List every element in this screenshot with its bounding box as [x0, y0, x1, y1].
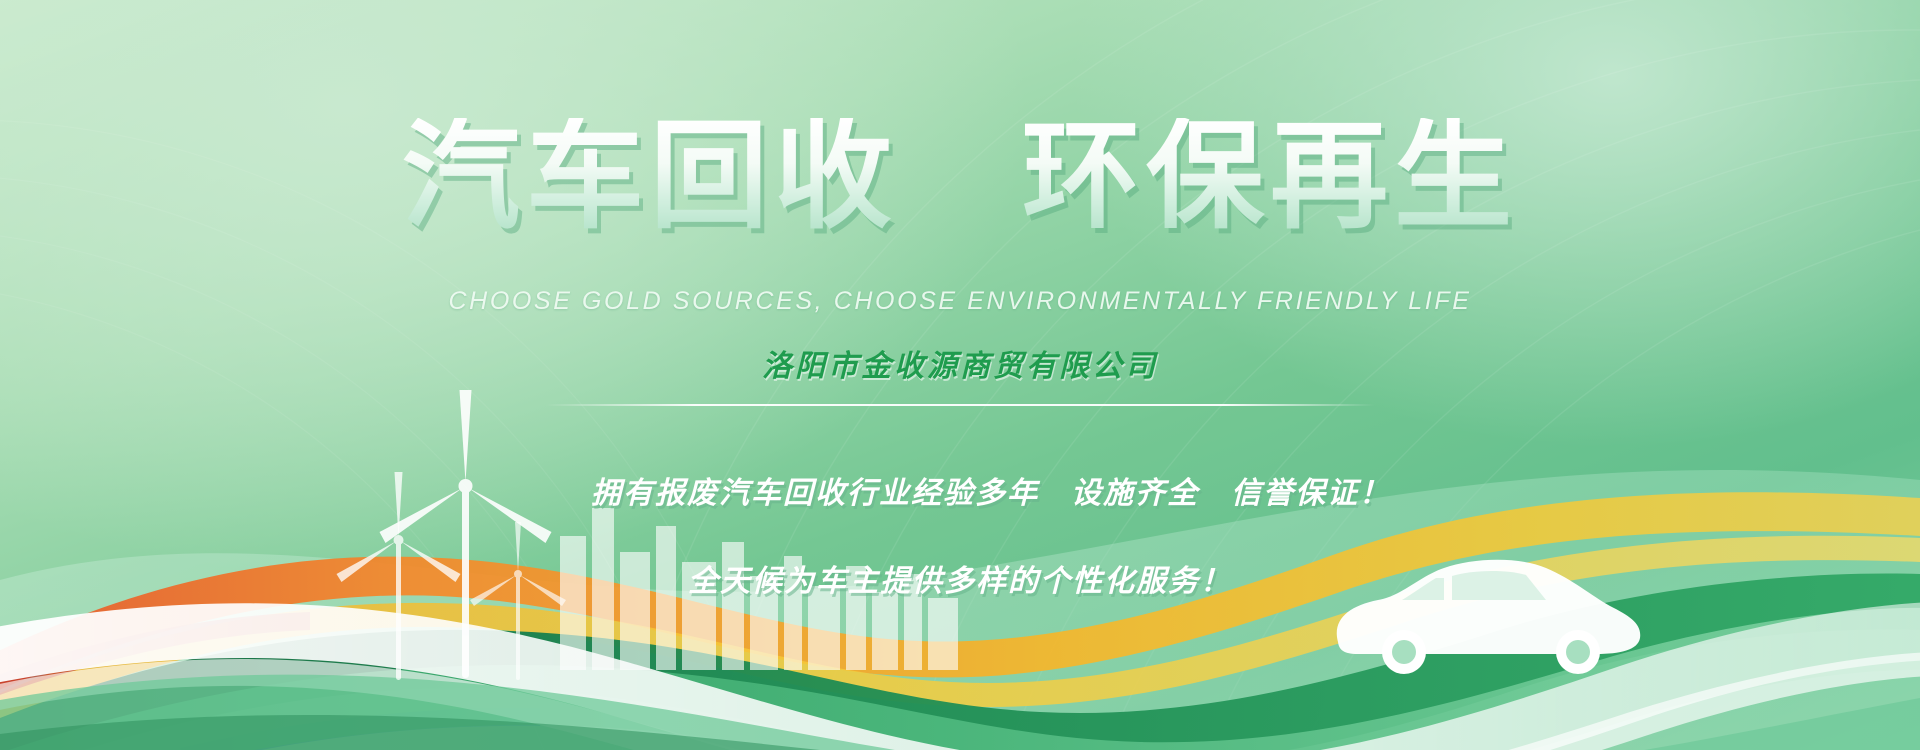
banner-content: 汽车回收 环保再生 CHOOSE GOLD SOURCES, CHOOSE EN… [0, 0, 1920, 750]
english-subtitle: CHOOSE GOLD SOURCES, CHOOSE ENVIRONMENTA… [0, 286, 1920, 316]
promo-banner: 汽车回收 环保再生 CHOOSE GOLD SOURCES, CHOOSE EN… [0, 0, 1920, 750]
tagline: 拥有报废汽车回收行业经验多年 设施齐全 信誉保证！ 全天候为车主提供多样的个性化… [0, 428, 1920, 692]
company-name: 洛阳市金收源商贸有限公司 [0, 348, 1920, 386]
divider [545, 404, 1375, 406]
tagline-line-1: 拥有报废汽车回收行业经验多年 设施齐全 信誉保证！ [591, 477, 1391, 510]
tagline-line-2: 全天候为车主提供多样的个性化服务！ [0, 560, 1920, 604]
headline: 汽车回收 环保再生 [0, 118, 1920, 236]
